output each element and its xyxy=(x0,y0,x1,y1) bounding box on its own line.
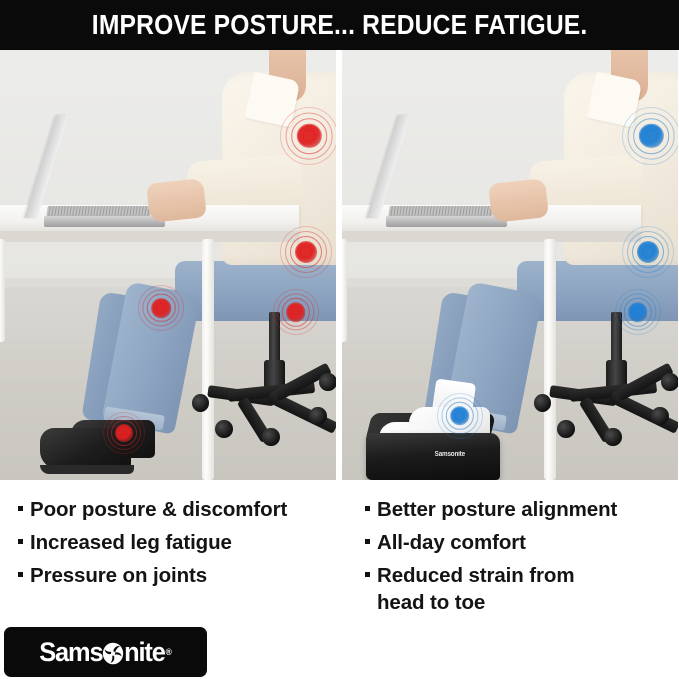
shirt-collar xyxy=(244,71,300,127)
benefits-list: Better posture alignmentAll-day comfortR… xyxy=(339,482,678,622)
samsonite-wordmark: Sams nite ® xyxy=(39,637,172,668)
bullet-lists: Poor posture & discomfortIncreased leg f… xyxy=(0,482,679,622)
list-item: Poor posture & discomfort xyxy=(18,496,339,523)
list-item: Better posture alignment xyxy=(365,496,678,523)
list-item: Increased leg fatigue xyxy=(18,529,339,556)
chair-caster xyxy=(309,407,326,425)
desk-leg-front xyxy=(544,239,556,480)
photo-panel-with-footrest: Samsonite xyxy=(342,50,678,480)
list-item-label: Increased leg fatigue xyxy=(18,529,232,556)
logo-text-part1: Sams xyxy=(39,637,102,668)
desk-edge xyxy=(0,231,299,241)
footrest-brand-label: Samsonite xyxy=(434,451,464,458)
header-banner: IMPROVE POSTURE... REDUCE FATIGUE. xyxy=(0,0,679,50)
chair-caster xyxy=(262,428,279,446)
list-item-label: Pressure on joints xyxy=(18,562,207,589)
samsonite-logo: Sams nite ® xyxy=(4,627,207,677)
chair-caster xyxy=(192,394,209,412)
shirt-collar xyxy=(586,71,642,127)
shoe-front xyxy=(40,428,131,469)
list-item-label: All-day comfort xyxy=(365,529,526,556)
chair-caster xyxy=(604,428,621,446)
laptop-base xyxy=(44,216,165,227)
drawbacks-list: Poor posture & discomfortIncreased leg f… xyxy=(0,482,339,622)
registered-trademark-symbol: ® xyxy=(166,647,172,657)
logo-text-part2: nite xyxy=(124,637,165,668)
list-item: Reduced strain from head to toe xyxy=(365,562,678,616)
chair-caster xyxy=(661,373,678,391)
desk-leg-side xyxy=(342,239,347,342)
thigh-jeans xyxy=(175,261,336,321)
chair-caster xyxy=(319,373,336,391)
chair-caster xyxy=(557,420,574,438)
banner-title: IMPROVE POSTURE... REDUCE FATIGUE. xyxy=(92,9,588,41)
list-item-label: Better posture alignment xyxy=(365,496,617,523)
laptop-base xyxy=(386,216,507,227)
list-item: All-day comfort xyxy=(365,529,678,556)
desk-leg-side xyxy=(0,239,5,342)
chair-caster xyxy=(534,394,551,412)
thigh-jeans xyxy=(517,261,678,321)
samsonite-swirl-icon xyxy=(102,641,124,664)
chair-caster xyxy=(651,407,668,425)
list-item-label: Poor posture & discomfort xyxy=(18,496,287,523)
photo-panel-without-footrest xyxy=(0,50,336,480)
desk-edge xyxy=(342,231,641,241)
hand xyxy=(488,178,549,222)
samsonite-footrest xyxy=(366,433,500,480)
hand xyxy=(146,178,207,222)
shoe-sole xyxy=(40,465,134,474)
chair-caster xyxy=(215,420,232,438)
comparison-photos: Samsonite xyxy=(0,50,679,480)
desk-leg-front xyxy=(202,239,214,480)
list-item: Pressure on joints xyxy=(18,562,339,589)
list-item-label: Reduced strain from head to toe xyxy=(365,562,574,616)
